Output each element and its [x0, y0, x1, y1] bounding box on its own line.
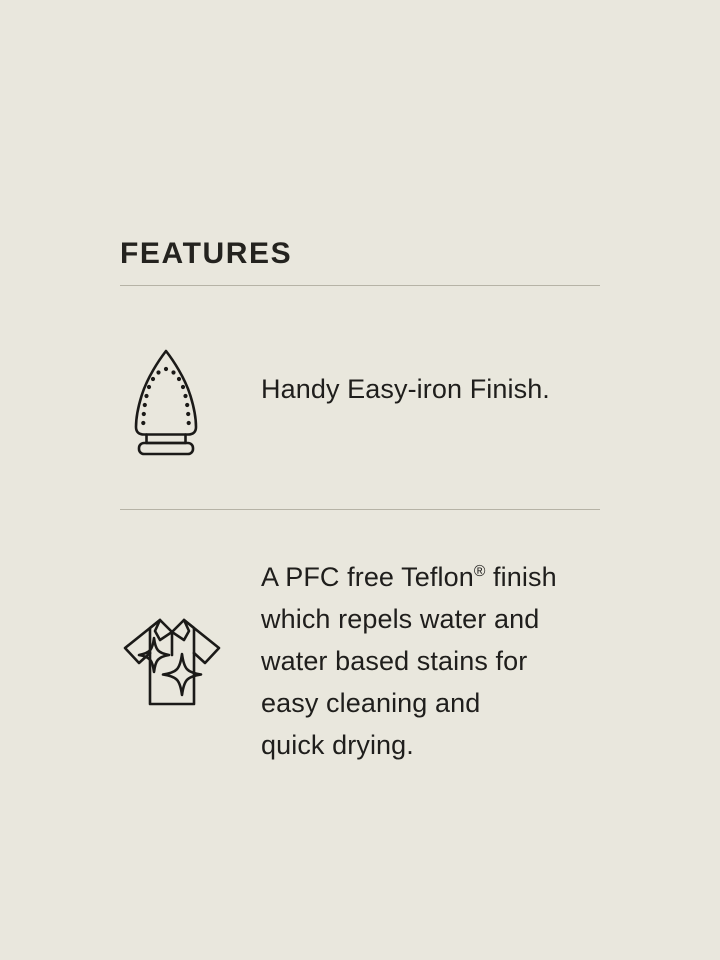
feature-icon-wrapper [120, 556, 261, 708]
feature-item-easy-iron: Handy Easy-iron Finish. [120, 340, 610, 458]
registered-trademark-symbol: ® [474, 563, 486, 580]
features-section: FEATURES [0, 0, 720, 960]
divider-middle [120, 509, 600, 510]
feature-item-teflon-finish: A PFC free Teflon® finish which repels w… [120, 556, 610, 766]
teflon-text-part-1: A PFC free Teflon [261, 562, 474, 592]
feature-description-easy-iron: Handy Easy-iron Finish. [261, 340, 610, 410]
sparkling-shirt-icon [122, 610, 222, 708]
feature-description-teflon-finish: A PFC free Teflon® finish which repels w… [261, 556, 610, 766]
clothes-iron-icon [132, 348, 200, 458]
feature-icon-wrapper [120, 340, 261, 458]
divider-top [120, 285, 600, 286]
page-title: FEATURES [120, 234, 292, 274]
